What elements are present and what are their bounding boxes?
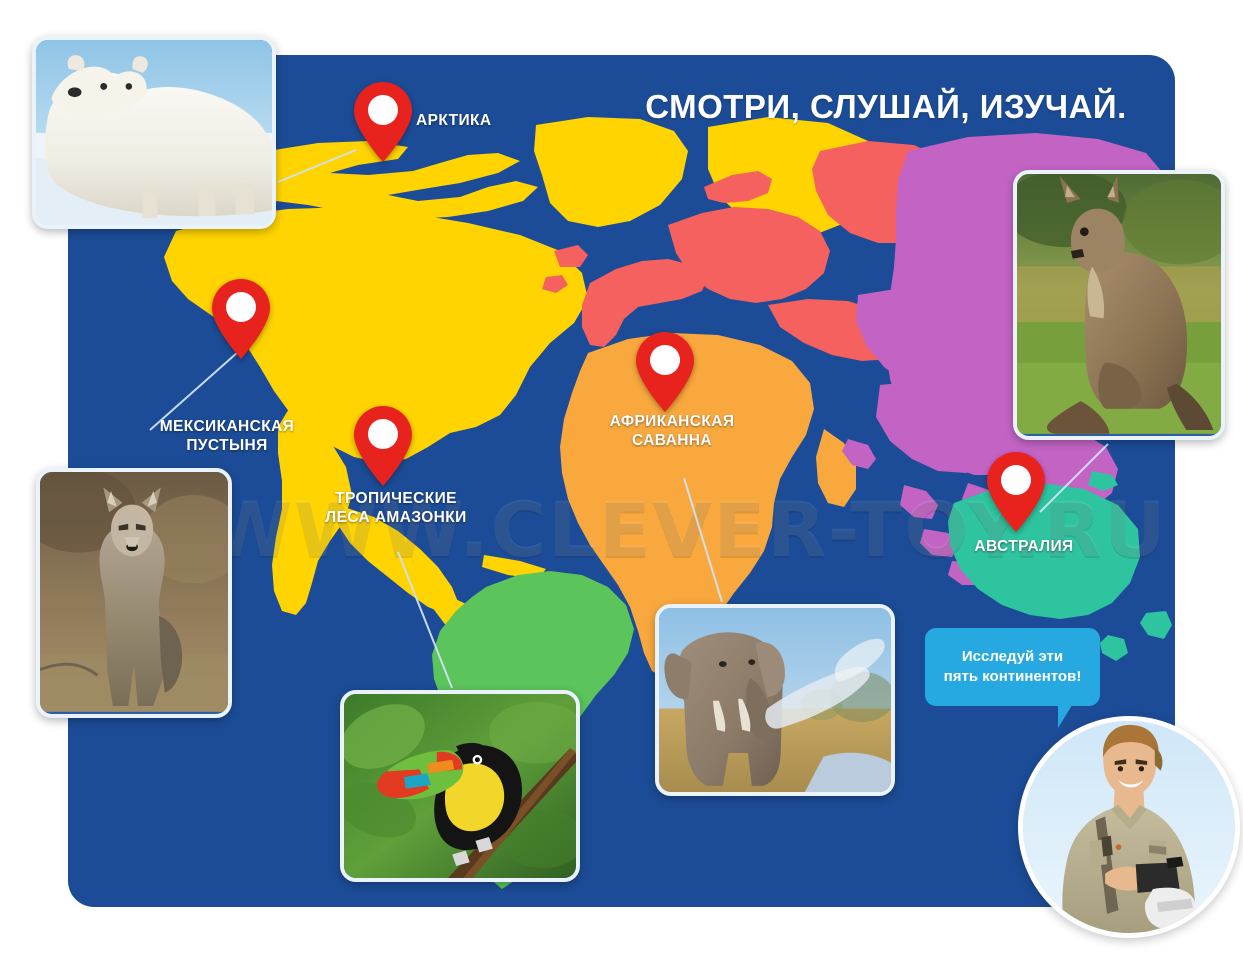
photo-card-kangaroo[interactable]	[1013, 170, 1225, 440]
photo-card-polar-bear[interactable]	[32, 36, 276, 229]
location-pin-icon	[985, 450, 1047, 534]
toucan-photo	[344, 694, 576, 880]
poster-canvas: WWW.CLEVER-TOY.RU СМОТРИ, СЛУШАЙ, ИЗУЧАЙ…	[0, 0, 1243, 960]
speech-bubble-text: Исследуй эти пять континентов!	[944, 647, 1082, 688]
coyote-photo	[40, 472, 228, 712]
photo-card-toucan[interactable]	[340, 690, 580, 882]
polar-bear-photo	[36, 40, 272, 227]
kangaroo-photo	[1017, 174, 1221, 434]
map-marker-arctic[interactable]	[352, 80, 414, 164]
map-label-african-savanna: АФРИКАНСКАЯ САВАННА	[598, 413, 746, 451]
location-pin-icon	[352, 80, 414, 164]
speech-bubble-tail	[1058, 702, 1074, 728]
location-pin-icon	[352, 404, 414, 488]
map-marker-australia[interactable]	[985, 450, 1047, 534]
map-marker-mexican-desert[interactable]	[210, 277, 272, 361]
map-label-mexican-desert: МЕКСИКАНСКАЯ ПУСТЫНЯ	[143, 418, 311, 456]
location-pin-icon	[634, 330, 696, 414]
map-marker-amazon-forest[interactable]	[352, 404, 414, 488]
elephant-photo	[659, 608, 891, 794]
page-title: СМОТРИ, СЛУШАЙ, ИЗУЧАЙ.	[586, 88, 1186, 126]
speech-bubble: Исследуй эти пять континентов!	[925, 628, 1100, 706]
map-label-arctic: АРКТИКА	[416, 112, 491, 131]
photo-card-elephant[interactable]	[655, 604, 895, 796]
photographer-avatar-photo	[1023, 721, 1235, 933]
location-pin-icon	[210, 277, 272, 361]
photographer-avatar[interactable]	[1018, 716, 1240, 938]
map-marker-african-savanna[interactable]	[634, 330, 696, 414]
map-label-australia: АВСТРАЛИЯ	[960, 538, 1088, 557]
map-label-amazon-forest: ТРОПИЧЕСКИЕ ЛЕСА АМАЗОНКИ	[318, 490, 474, 528]
photo-card-coyote[interactable]	[36, 468, 232, 718]
